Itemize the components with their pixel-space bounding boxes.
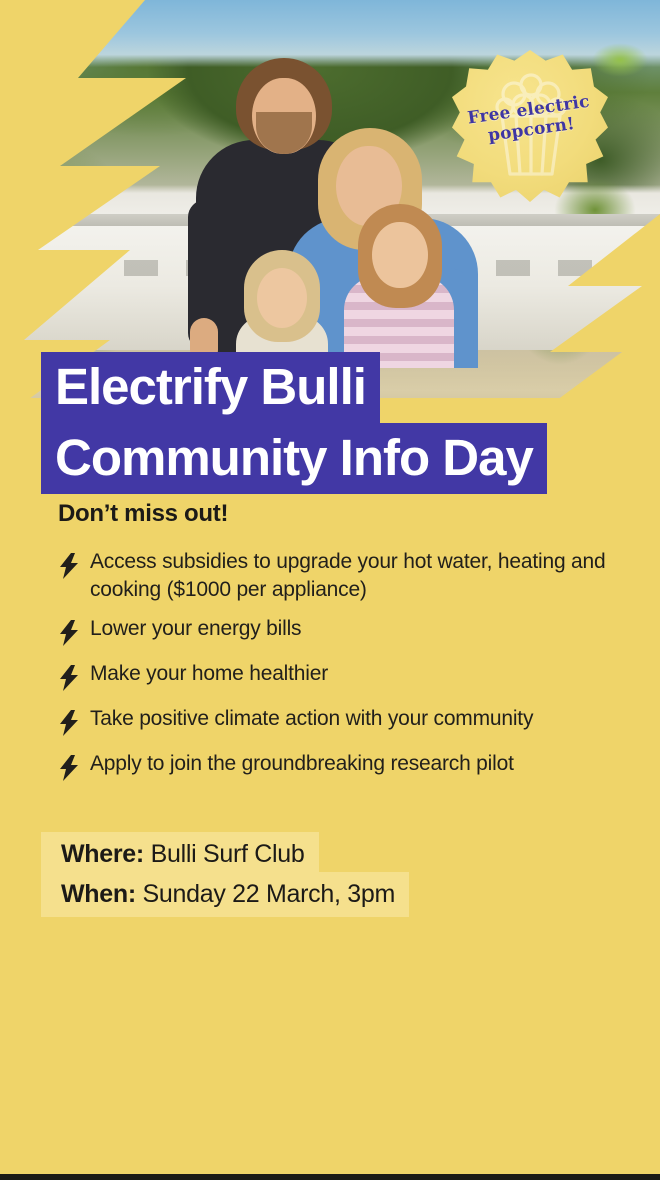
benefit-text: Lower your energy bills: [90, 615, 301, 643]
list-item: Apply to join the groundbreaking researc…: [58, 750, 638, 783]
poster-title: Electrify Bulli Community Info Day: [41, 352, 547, 494]
event-details: Where: Bulli Surf Club When: Sunday 22 M…: [41, 832, 511, 917]
lightning-bolt-icon: [58, 663, 90, 693]
neighbourhood-illustration: [0, 930, 660, 1180]
detail-when: When: Sunday 22 March, 3pm: [41, 872, 409, 916]
detail-where: Where: Bulli Surf Club: [41, 832, 319, 873]
list-item: Take positive climate action with your c…: [58, 705, 638, 738]
person-younger-girl-face: [257, 268, 307, 328]
body-copy: Don’t miss out! Access subsidies to upgr…: [58, 500, 638, 795]
list-item: Access subsidies to upgrade your hot wat…: [58, 548, 638, 603]
poster-bottom-edge: [0, 1174, 660, 1180]
lightning-bolt-icon: [58, 753, 90, 783]
lead-text: Don’t miss out!: [58, 500, 638, 528]
where-value: Bulli Surf Club: [151, 840, 305, 868]
lightning-bolt-icon: [58, 618, 90, 648]
benefit-text: Apply to join the groundbreaking researc…: [90, 750, 514, 778]
list-item: Lower your energy bills: [58, 615, 638, 648]
person-older-girl-face: [372, 222, 428, 288]
title-line-2: Community Info Day: [41, 423, 547, 494]
where-label: Where:: [61, 840, 144, 868]
poster-root: Free electric popcorn! Electrify Bulli C…: [0, 0, 660, 1180]
benefit-text: Take positive climate action with your c…: [90, 705, 533, 733]
when-label: When:: [61, 880, 136, 908]
benefits-list: Access subsidies to upgrade your hot wat…: [58, 548, 638, 783]
when-value: Sunday 22 March, 3pm: [143, 880, 395, 908]
illustration-sky: [0, 930, 660, 1180]
lightning-bolt-icon: [58, 708, 90, 738]
benefit-text: Access subsidies to upgrade your hot wat…: [90, 548, 614, 603]
title-line-1: Electrify Bulli: [41, 352, 380, 423]
free-popcorn-badge: Free electric popcorn!: [452, 50, 608, 202]
list-item: Make your home healthier: [58, 660, 638, 693]
lightning-bolt-icon: [58, 551, 90, 581]
benefit-text: Make your home healthier: [90, 660, 328, 688]
